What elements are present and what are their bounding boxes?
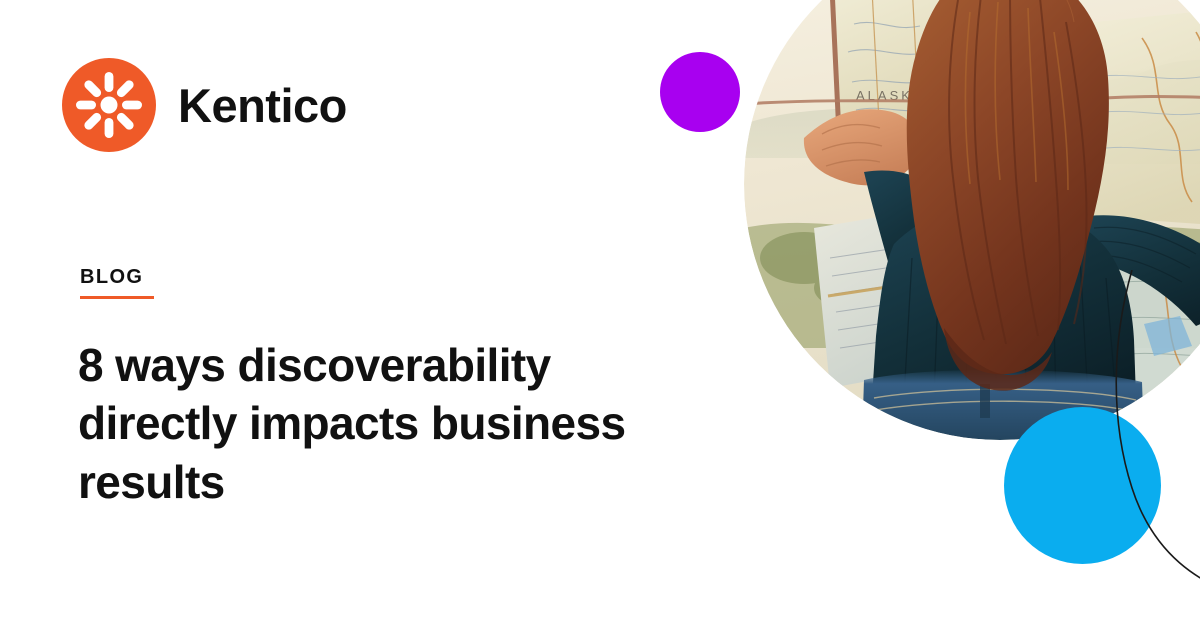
headline-line-3: results [78, 453, 718, 511]
article-headline: 8 ways discoverability directly impacts … [78, 336, 718, 511]
blog-share-card: ALASKA [0, 0, 1200, 627]
category-eyebrow: BLOG [80, 266, 154, 299]
kentico-asterisk-flower-icon [62, 58, 156, 152]
eyebrow-underline-rule [80, 296, 154, 299]
hero-photo-circle: ALASKA [744, 0, 1200, 440]
brand-wordmark: Kentico [178, 82, 347, 129]
brand-lockup[interactable]: Kentico [62, 58, 347, 152]
headline-line-2: directly impacts business [78, 394, 718, 452]
blue-circle-decoration [1004, 407, 1161, 564]
headline-line-1: 8 ways discoverability [78, 336, 718, 394]
category-label: BLOG [80, 266, 154, 288]
purple-circle-decoration [660, 52, 740, 132]
